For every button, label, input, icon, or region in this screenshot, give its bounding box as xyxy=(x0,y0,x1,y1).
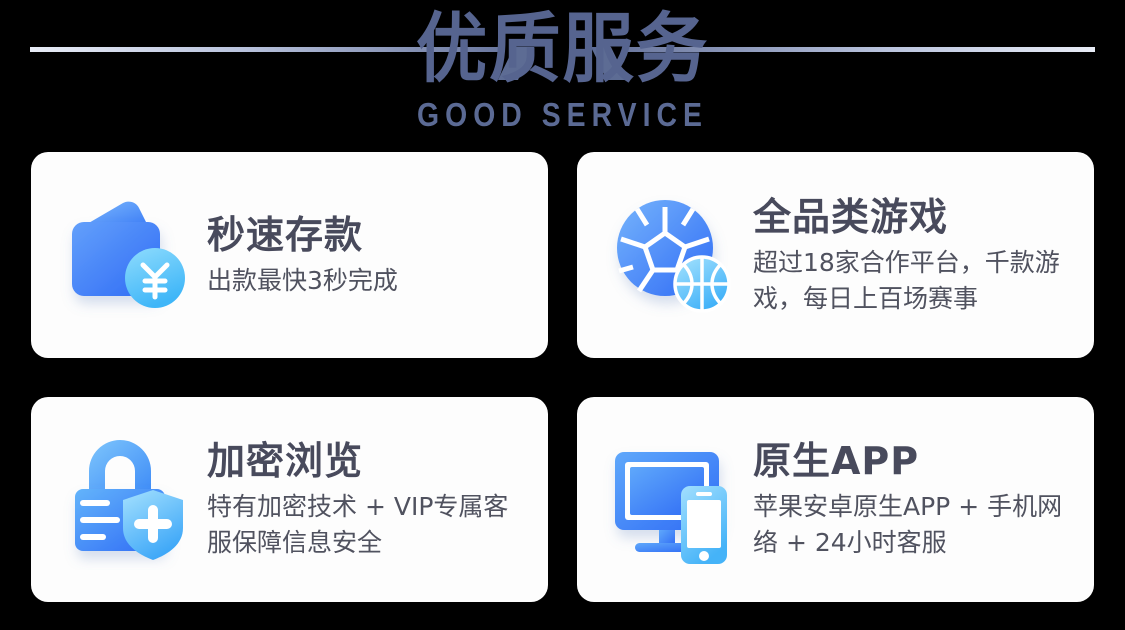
feature-card-native-app[interactable]: 原生APP 苹果安卓原生APP + 手机网络 + 24小时客服 xyxy=(577,397,1094,602)
card-title: 全品类游戏 xyxy=(753,194,1094,240)
wallet-yen-icon xyxy=(57,185,197,325)
card-text-block: 加密浏览 特有加密技术 + VIP专属客服保障信息安全 xyxy=(207,438,548,561)
feature-card-deposit[interactable]: 秒速存款 出款最快3秒完成 xyxy=(31,152,548,358)
page-title: 优质服务 xyxy=(34,5,1092,93)
card-subtitle: 超过18家合作平台，千款游戏，每日上百场赛事 xyxy=(753,245,1083,317)
card-text-block: 全品类游戏 超过18家合作平台，千款游戏，每日上百场赛事 xyxy=(753,194,1094,317)
card-text-block: 秒速存款 出款最快3秒完成 xyxy=(207,212,548,299)
feature-card-games[interactable]: 全品类游戏 超过18家合作平台，千款游戏，每日上百场赛事 xyxy=(577,152,1094,358)
page-header: 优质服务 GOOD SERVICE xyxy=(0,0,1125,146)
card-text-block: 原生APP 苹果安卓原生APP + 手机网络 + 24小时客服 xyxy=(753,438,1094,561)
card-subtitle: 特有加密技术 + VIP专属客服保障信息安全 xyxy=(207,489,527,561)
card-title: 原生APP xyxy=(753,438,1094,484)
page-subtitle: GOOD SERVICE xyxy=(79,96,1047,134)
card-title: 秒速存款 xyxy=(207,212,548,258)
card-title: 加密浏览 xyxy=(207,438,548,484)
lock-shield-icon xyxy=(57,430,197,570)
feature-card-encryption[interactable]: 加密浏览 特有加密技术 + VIP专属客服保障信息安全 xyxy=(31,397,548,602)
monitor-phone-icon xyxy=(603,430,743,570)
card-subtitle: 苹果安卓原生APP + 手机网络 + 24小时客服 xyxy=(753,489,1083,561)
feature-card-grid: 秒速存款 出款最快3秒完成 xyxy=(31,152,1094,602)
soccer-basketball-icon xyxy=(603,185,743,325)
card-subtitle: 出款最快3秒完成 xyxy=(207,263,527,299)
